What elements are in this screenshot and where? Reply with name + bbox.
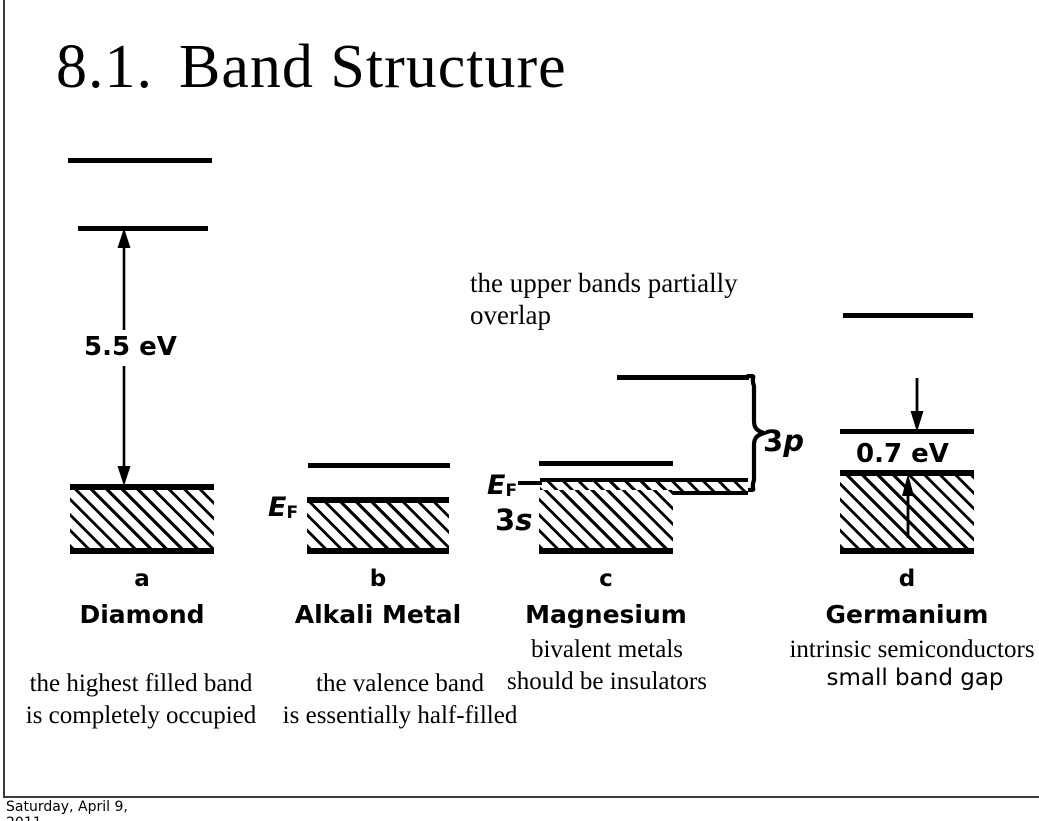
magnesium-3p-label-orbital: p xyxy=(783,424,804,458)
panel-c-material: Magnesium xyxy=(496,600,716,629)
slide-border-bottom xyxy=(3,796,1039,798)
panel-a-material: Diamond xyxy=(30,600,254,629)
page-title: 8.1.Band Structure xyxy=(56,32,567,103)
magnesium-3s-label-orbital: s xyxy=(515,503,532,537)
panel-b-letter: b xyxy=(307,566,449,592)
diamond-upper-empty-level xyxy=(68,158,212,163)
alkali-fermi-label-sub: F xyxy=(286,503,298,523)
upper-bands-annotation-line1: the upper bands partially xyxy=(470,268,738,300)
upper-bands-annotation-line2: overlap xyxy=(470,300,738,332)
magnesium-3s-label: 3s xyxy=(495,503,532,537)
upper-bands-annotation: the upper bands partially overlap xyxy=(470,268,738,332)
panel-c-note-line2: should be insulators xyxy=(490,666,724,698)
germanium-excitation-up-arrow xyxy=(897,474,919,538)
panel-b-note-line2: is essentially half-filled xyxy=(256,700,544,732)
footer-line-2: 2011 xyxy=(6,815,128,821)
diamond-conduction-band-edge xyxy=(78,226,208,231)
alkali-fermi-level-label: EF xyxy=(268,492,298,523)
magnesium-3s-label-n: 3 xyxy=(495,503,515,537)
magnesium-fermi-connector-dash xyxy=(518,481,542,485)
panel-d-material: Germanium xyxy=(797,600,1017,629)
magnesium-3p-label: 3p xyxy=(763,424,804,458)
panel-d-note-line2: small band gap xyxy=(800,664,1030,693)
magnesium-3p-label-n: 3 xyxy=(763,424,783,458)
footer-line-1: Saturday, April 9, xyxy=(6,799,128,815)
panel-d-note-line2-wrap: small band gap xyxy=(800,664,1030,693)
panel-c-note: bivalent metals should be insulators xyxy=(490,634,724,698)
germanium-conduction-band-edge xyxy=(840,429,974,434)
panel-d-letter: d xyxy=(840,566,974,592)
magnesium-fermi-label-sub: F xyxy=(505,481,517,501)
panel-a-letter: a xyxy=(70,566,214,592)
panel-c-letter: c xyxy=(539,566,673,592)
germanium-gap-down-arrow xyxy=(906,378,928,432)
slide-footer-date: Saturday, April 9, 2011 xyxy=(6,799,128,821)
panel-d-note-line1-wrap: intrinsic semiconductors xyxy=(785,634,1039,666)
magnesium-3s-band-top-line xyxy=(539,461,673,466)
panel-c-note-line1: bivalent metals xyxy=(490,634,724,666)
diamond-band-gap-label: 5.5 eV xyxy=(84,332,177,362)
title-number: 8.1. xyxy=(56,33,153,101)
alkali-valence-band xyxy=(307,497,449,554)
panel-a-note-line2: is completely occupied xyxy=(0,700,288,732)
magnesium-3s-band xyxy=(539,490,673,554)
panel-b-material: Alkali Metal xyxy=(268,600,488,629)
alkali-upper-empty-level xyxy=(308,463,450,468)
slide-canvas: 8.1.Band Structure 5.5 eV a Diamond the … xyxy=(0,0,1039,821)
panel-a-note-line1: the highest filled band xyxy=(0,668,288,700)
alkali-fermi-label-base: E xyxy=(268,492,286,523)
title-text: Band Structure xyxy=(179,33,567,101)
panel-d-note-line1: intrinsic semiconductors xyxy=(785,634,1039,666)
magnesium-fermi-label-base: E xyxy=(487,470,505,501)
germanium-upper-empty-level xyxy=(843,313,973,318)
germanium-band-gap-label: 0.7 eV xyxy=(856,439,949,469)
magnesium-3p-band-top-line xyxy=(617,375,749,380)
diamond-valence-band xyxy=(70,484,214,554)
panel-a-note: the highest filled band is completely oc… xyxy=(0,668,288,732)
magnesium-fermi-level-label: EF xyxy=(487,470,517,501)
